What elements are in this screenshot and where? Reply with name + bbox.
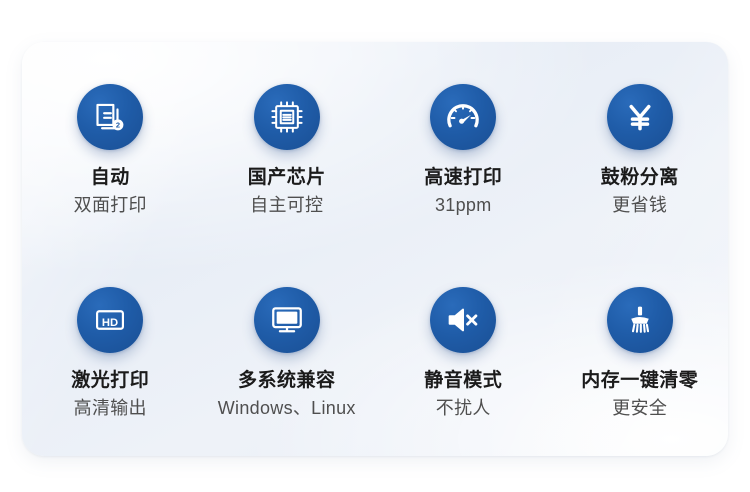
feature-title: 静音模式 bbox=[424, 370, 502, 391]
feature-title: 内存一键清零 bbox=[581, 370, 698, 391]
screenshot-stage: 2 自动 双面打印 bbox=[0, 0, 750, 492]
feature-item-laser[interactable]: HD 激光打印 高清输出 bbox=[22, 253, 199, 418]
svg-text:2: 2 bbox=[116, 121, 120, 130]
feature-subtitle: 31ppm bbox=[435, 195, 492, 215]
feature-highlight-card: 2 自动 双面打印 bbox=[22, 42, 728, 456]
speedometer-icon bbox=[430, 84, 496, 150]
feature-item-duplex[interactable]: 2 自动 双面打印 bbox=[22, 50, 199, 215]
hd-quality-icon: HD bbox=[77, 287, 143, 353]
feature-subtitle: 不扰人 bbox=[436, 398, 491, 418]
desktop-monitor-icon bbox=[254, 287, 320, 353]
feature-title: 国产芯片 bbox=[248, 167, 326, 188]
hd-icon-label: HD bbox=[102, 317, 118, 329]
feature-item-chip[interactable]: 国产芯片 自主可控 bbox=[199, 50, 376, 215]
feature-title: 多系统兼容 bbox=[238, 370, 336, 391]
broom-clean-icon bbox=[607, 287, 673, 353]
yuan-currency-icon bbox=[607, 84, 673, 150]
feature-subtitle: 自主可控 bbox=[250, 195, 323, 215]
feature-title: 鼓粉分离 bbox=[601, 167, 679, 188]
feature-subtitle: 双面打印 bbox=[74, 195, 147, 215]
feature-item-toner[interactable]: 鼓粉分离 更省钱 bbox=[552, 50, 729, 215]
feature-item-quiet[interactable]: 静音模式 不扰人 bbox=[375, 253, 552, 418]
feature-item-memory-clear[interactable]: 内存一键清零 更安全 bbox=[552, 253, 729, 418]
feature-title: 激光打印 bbox=[71, 370, 149, 391]
feature-subtitle: Windows、Linux bbox=[218, 398, 356, 418]
feature-item-speed[interactable]: 高速打印 31ppm bbox=[375, 50, 552, 215]
feature-subtitle: 高清输出 bbox=[74, 398, 147, 418]
feature-title: 自动 bbox=[91, 167, 130, 188]
feature-grid: 2 自动 双面打印 bbox=[22, 42, 728, 456]
feature-item-os-compat[interactable]: 多系统兼容 Windows、Linux bbox=[199, 253, 376, 418]
feature-subtitle: 更省钱 bbox=[612, 195, 667, 215]
duplex-document-icon: 2 bbox=[77, 84, 143, 150]
speaker-mute-icon bbox=[430, 287, 496, 353]
feature-title: 高速打印 bbox=[424, 167, 502, 188]
feature-subtitle: 更安全 bbox=[612, 398, 667, 418]
cpu-chip-icon bbox=[254, 84, 320, 150]
